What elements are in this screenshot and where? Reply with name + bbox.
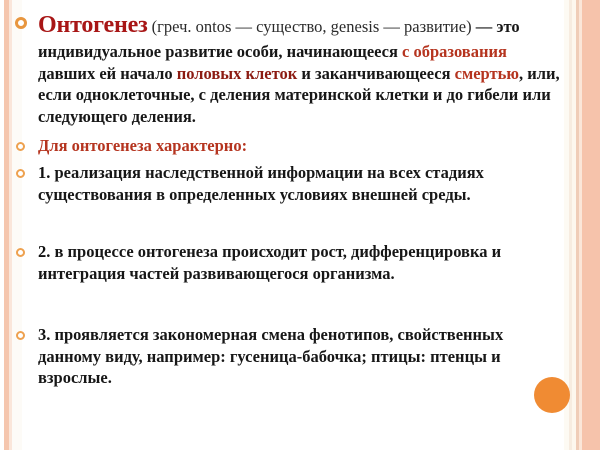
right-border-decoration [564,0,600,450]
bullet-ring-icon [16,248,25,257]
definition-part-2: давших ей начало [38,64,177,83]
point-3-paragraph: 3. проявляется закономерная смена феноти… [38,324,562,388]
point-2-number: 2. [38,242,50,261]
bullet-ring-icon [16,169,25,178]
slide-canvas: Онтогенез (греч. ontos — существо, genes… [0,0,600,450]
list-item-point-2: 2. в процессе онтогенеза происходит рост… [14,241,562,284]
etymology-open: (греч. [148,17,196,36]
etymology-close: — развитие) [379,17,471,36]
point-3-number: 3. [38,325,50,344]
point-1-paragraph: 1. реализация наследственной информации … [38,162,562,205]
definition-highlight-formation: с образования [402,42,507,61]
definition-part-3: и заканчивающееся [297,64,454,83]
bullet-ring-icon [16,142,25,151]
slide-content: Онтогенез (греч. ontos — существо, genes… [14,10,562,390]
list-item-characteristic-heading: Для онтогенеза характерно: [14,135,562,156]
definition-paragraph: Онтогенез (греч. ontos — существо, genes… [38,10,562,127]
bullet-ring-icon [15,17,27,29]
point-3-text: проявляется закономерная смена фенотипов… [38,325,503,387]
etymology-middle: — существо, [231,17,330,36]
list-item-definition: Онтогенез (греч. ontos — существо, genes… [14,10,562,127]
bullet-ring-icon [16,331,25,340]
characteristic-heading: Для онтогенеза характерно: [38,135,562,156]
page-title: Онтогенез [38,12,148,38]
list-item-point-1: 1. реализация наследственной информации … [14,162,562,205]
list-item-point-3: 3. проявляется закономерная смена феноти… [14,324,562,388]
etymology-latin-ontos: ontos [196,17,232,36]
definition-highlight-sex-cells: половых клеток [177,64,298,83]
right-stripe-6 [582,0,600,450]
point-1-number: 1. [38,163,50,182]
definition-highlight-death: смертью [455,64,519,83]
bottom-border-decoration [22,434,564,450]
point-1-text: реализация наследственной информации на … [38,163,484,203]
point-2-text: в процессе онтогенеза происходит рост, д… [38,242,501,282]
point-2-paragraph: 2. в процессе онтогенеза происходит рост… [38,241,562,284]
etymology-latin-genesis: genesis [331,17,380,36]
